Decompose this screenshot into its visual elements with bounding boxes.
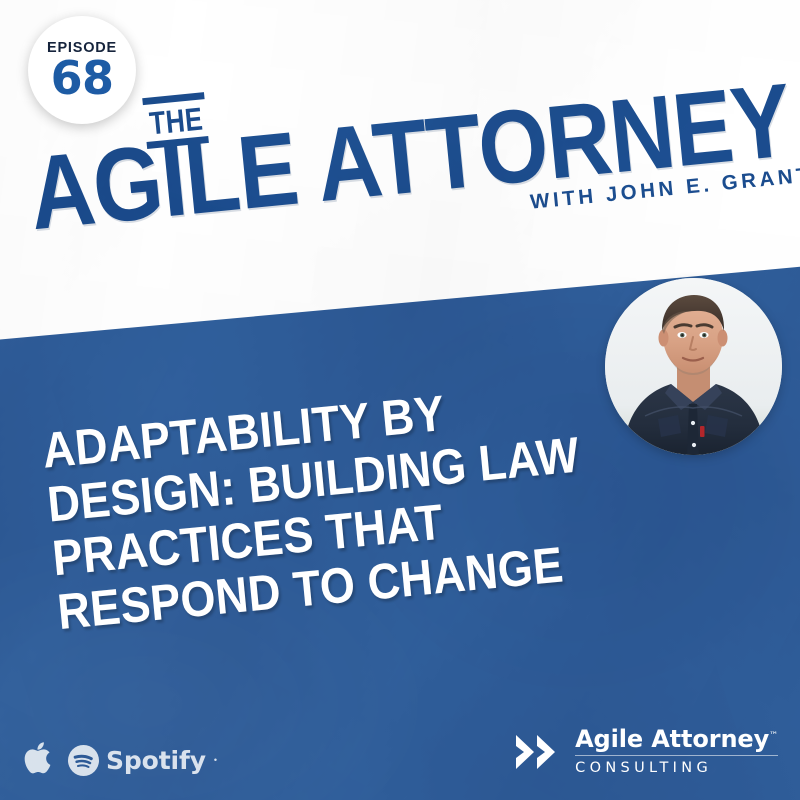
brand-text: Agile Attorney™ CONSULTING — [575, 727, 778, 776]
brand-name: Agile Attorney™ — [575, 725, 778, 753]
spotify-icon[interactable] — [68, 745, 99, 776]
episode-badge: EPISODE 68 — [28, 16, 136, 124]
platform-badges: Spotify • — [22, 742, 217, 778]
brand-name-text: Agile Attorney — [575, 725, 769, 753]
brand-trademark: ™ — [769, 731, 778, 741]
double-chevron-icon — [514, 732, 564, 772]
apple-icon[interactable] — [22, 742, 52, 778]
podcast-cover-art: EPISODE 68 THE AGILE ATTORNEY WITH JOHN … — [0, 0, 800, 800]
spotify-label: Spotify — [106, 746, 206, 775]
episode-badge-number: 68 — [51, 57, 114, 99]
brand-divider — [575, 755, 778, 756]
spotify-trademark: • — [214, 755, 217, 765]
brand-lockup: Agile Attorney™ CONSULTING — [514, 727, 778, 776]
spotify-badge[interactable]: Spotify • — [68, 745, 217, 776]
brand-subtitle: CONSULTING — [575, 760, 712, 776]
